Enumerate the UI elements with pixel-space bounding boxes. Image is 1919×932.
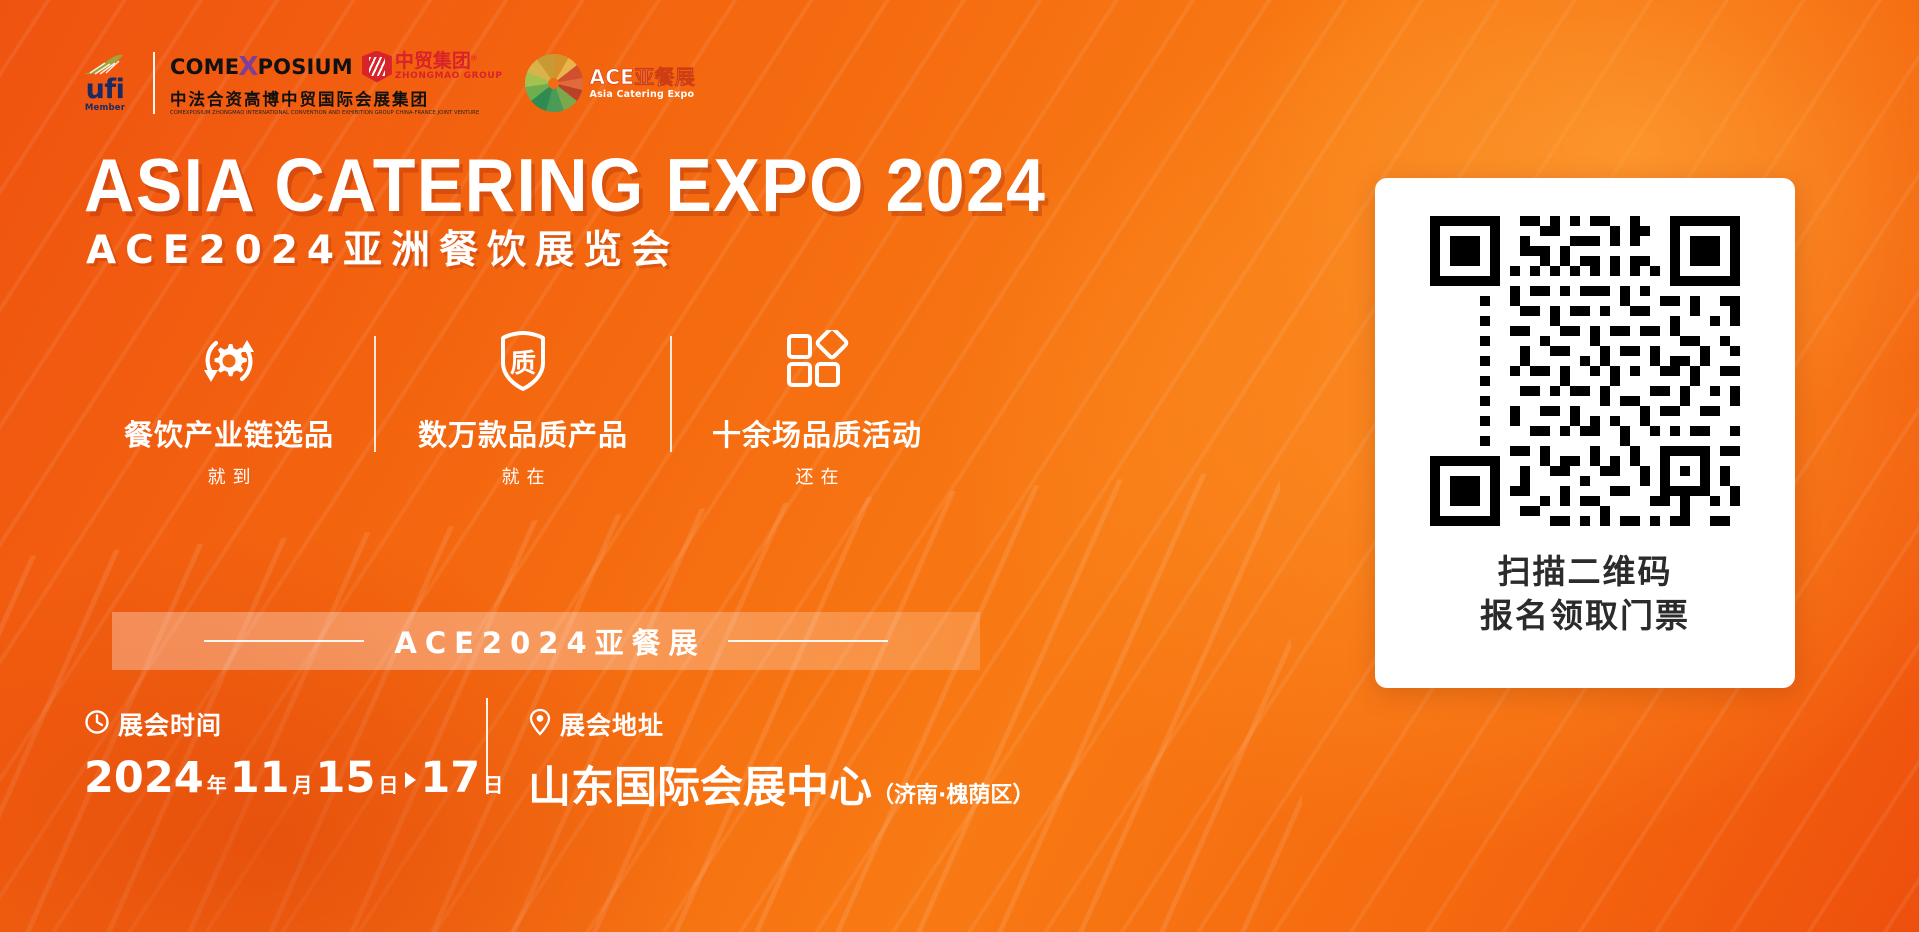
event-venue-label: 展会地址 — [560, 706, 664, 742]
event-time-value: 2024 年 11 月 15 日 17 日 — [84, 753, 506, 803]
qr-code-icon[interactable] — [1420, 206, 1750, 536]
comexposium-cn-romanized: COMEXPOSIUM ZHONGMAO INTERNATIONAL CONVE… — [170, 110, 503, 116]
event-venue-name: 山东国际会展中心 — [528, 753, 872, 815]
event-time-label: 展会时间 — [118, 706, 222, 742]
qr-caption-line2: 报名领取门票 — [1480, 594, 1690, 638]
page-title-chinese: ACE2024亚洲餐饮展览会 — [86, 231, 679, 270]
zhongmao-en-name: ZHONGMAO GROUP — [395, 72, 503, 82]
info-divider — [486, 698, 488, 794]
subbar-line-left — [204, 640, 364, 642]
comexposium-x-glyph: X — [238, 52, 258, 82]
comexposium-zhongmao-block: COMEXPOSIUM 中贸集团® ZHONGMAO GROUP 中法合资高博中… — [170, 51, 503, 116]
comexposium-part1: COME — [170, 55, 239, 79]
feature-title: 餐饮产业链选品 — [124, 412, 334, 454]
date-range-arrow-icon — [405, 772, 416, 788]
subbar-line-right — [728, 640, 888, 642]
event-venue-block: 展会地址 山东国际会展中心 （济南·槐荫区） — [528, 706, 1034, 815]
event-day-start: 15 — [316, 753, 376, 803]
feature-subtitle: 就到 — [201, 463, 258, 489]
feature-title: 数万款品质产品 — [418, 412, 628, 454]
event-venue-value: 山东国际会展中心 （济南·槐荫区） — [528, 753, 1034, 815]
zhongmao-shield-icon — [362, 51, 392, 83]
event-year: 2024 — [84, 753, 204, 803]
zhongmao-cn-name: 中贸集团 — [395, 50, 471, 72]
feature-list: 餐饮产业链选品 就到 质 数万款品质产品 就在 — [84, 330, 962, 489]
event-year-unit: 年 — [204, 769, 230, 798]
event-day-end: 17 — [420, 753, 480, 803]
comexposium-cn-name: 中法合资高博中贸国际会展集团 — [170, 86, 503, 110]
feature-subtitle: 还在 — [789, 463, 846, 489]
event-time-block: 展会时间 2024 年 11 月 15 日 17 日 — [84, 706, 506, 803]
qr-caption: 扫描二维码 报名领取门票 — [1480, 550, 1690, 638]
ufi-bird-icon — [82, 53, 128, 77]
event-time-header: 展会时间 — [84, 706, 506, 742]
zhongmao-cn-wrap: 中贸集团® — [395, 52, 503, 72]
feature-item-quality-events: 十余场品质活动 还在 — [672, 330, 962, 489]
feature-title: 十余场品质活动 — [712, 412, 922, 454]
svg-text:质: 质 — [510, 349, 536, 379]
squares-diamond-icon — [784, 330, 850, 392]
event-venue-district: （济南·槐荫区） — [872, 777, 1034, 809]
ace-logo-cn-name: ACE亚餐展 — [590, 67, 696, 87]
event-day-end-unit: 日 — [480, 769, 506, 798]
ace-logo-en-name: Asia Catering Expo — [590, 90, 696, 100]
ace-logo-text: ACE亚餐展 Asia Catering Expo — [590, 67, 696, 100]
event-venue-header: 展会地址 — [528, 706, 1034, 742]
sub-banner-bar: ACE2024亚餐展 — [112, 612, 980, 670]
ace-pinwheel-icon — [525, 54, 583, 112]
diagonal-streaks-lower-decoration — [0, 468, 1318, 932]
ufi-member-label: Member — [85, 103, 125, 113]
zhongmao-logo: 中贸集团® ZHONGMAO GROUP — [362, 51, 503, 83]
comexposium-wordmark: COMEXPOSIUM — [170, 52, 353, 82]
subbar-text: ACE2024亚餐展 — [386, 620, 705, 662]
qr-caption-line1: 扫描二维码 — [1480, 550, 1690, 594]
ace-expo-logo: ACE亚餐展 Asia Catering Expo — [525, 54, 696, 112]
gear-cycle-icon — [197, 330, 261, 392]
ufi-logo: ufi Member — [72, 53, 138, 114]
clock-icon — [84, 709, 110, 740]
comexposium-part2: POSIUM — [258, 55, 353, 79]
sponsor-logo-strip: ufi Member COMEXPOSIUM 中贸集团® ZHONGMAO GR… — [72, 46, 695, 120]
shield-quality-icon: 质 — [497, 330, 549, 392]
promotional-banner: ufi Member COMEXPOSIUM 中贸集团® ZHONGMAO GR… — [0, 0, 1919, 932]
event-month: 11 — [230, 753, 290, 803]
page-title-english: ASIA CATERING EXPO 2024 — [84, 148, 1046, 223]
feature-subtitle: 就在 — [495, 463, 552, 489]
location-pin-icon — [528, 708, 552, 741]
feature-item-supply-chain: 餐饮产业链选品 就到 — [84, 330, 374, 489]
feature-item-quality-products: 质 数万款品质产品 就在 — [376, 330, 670, 489]
logo-divider — [153, 52, 155, 114]
event-day-start-unit: 日 — [375, 769, 401, 798]
event-month-unit: 月 — [290, 769, 316, 798]
ufi-wordmark: ufi — [86, 77, 125, 103]
qr-registration-card[interactable]: 扫描二维码 报名领取门票 — [1375, 178, 1795, 688]
comexposium-row: COMEXPOSIUM 中贸集团® ZHONGMAO GROUP — [170, 51, 503, 83]
registered-mark-icon: ® — [471, 53, 477, 62]
